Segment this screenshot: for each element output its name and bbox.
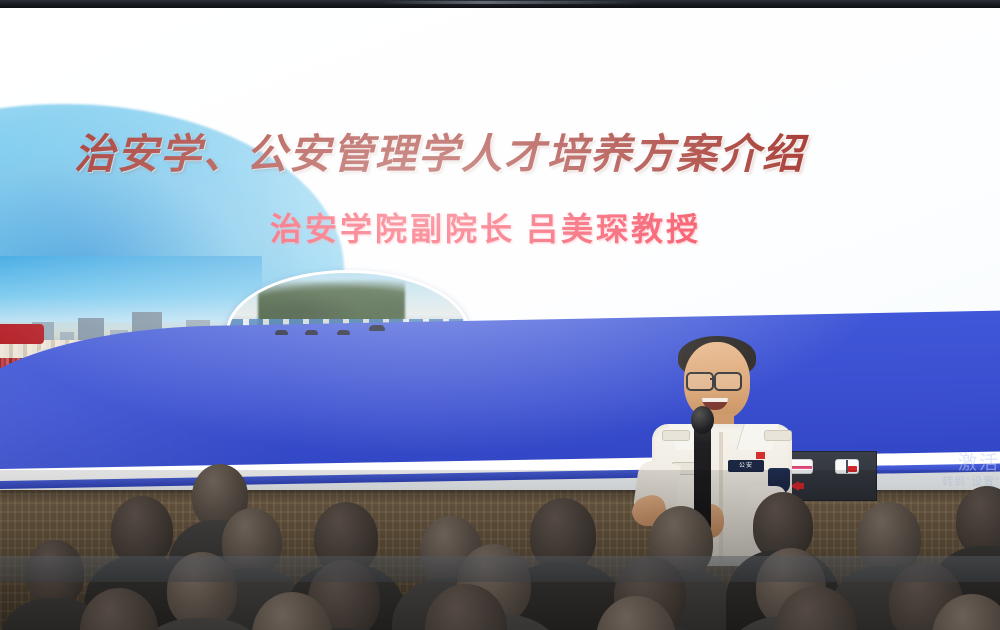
- projection-screen: 治安学、公安管理学人才培养方案介绍 治安学院副院长 吕美琛教授 激活 转到"设置…: [0, 8, 1000, 490]
- shoulder-epaulette-right: [764, 430, 792, 441]
- glasses-left-lens: [686, 372, 714, 391]
- battery-icon[interactable]: [835, 459, 859, 474]
- watermark-line-2: 转到"设置": [942, 476, 1000, 490]
- presentation-slide: 治安学、公安管理学人才培养方案介绍 治安学院副院长 吕美琛教授 激活 转到"设置…: [0, 8, 1000, 490]
- plaza-red-structure: [0, 324, 44, 344]
- glasses-right-lens: [714, 372, 742, 391]
- watermark-line-1: 激活: [942, 452, 1000, 476]
- uniform-flag-pin-icon: [756, 452, 765, 459]
- shoulder-epaulette-left: [662, 430, 690, 441]
- presenter: 公安: [636, 336, 816, 566]
- slide-title: 治安学、公安管理学人才培养方案介绍: [74, 120, 934, 180]
- slide-subtitle: 治安学院副院长 吕美琛教授: [270, 204, 970, 250]
- microphone: [694, 414, 711, 534]
- presenter-right-arm: [746, 486, 786, 546]
- uniform-button-placket: [719, 432, 723, 562]
- glasses-bridge: [710, 378, 716, 380]
- activation-watermark: 激活 转到"设置": [942, 452, 1000, 490]
- lecture-hall-scene: 治安学、公安管理学人才培养方案介绍 治安学院副院长 吕美琛教授 激活 转到"设置…: [0, 0, 1000, 630]
- uniform-chest-badge: 公安: [728, 460, 764, 472]
